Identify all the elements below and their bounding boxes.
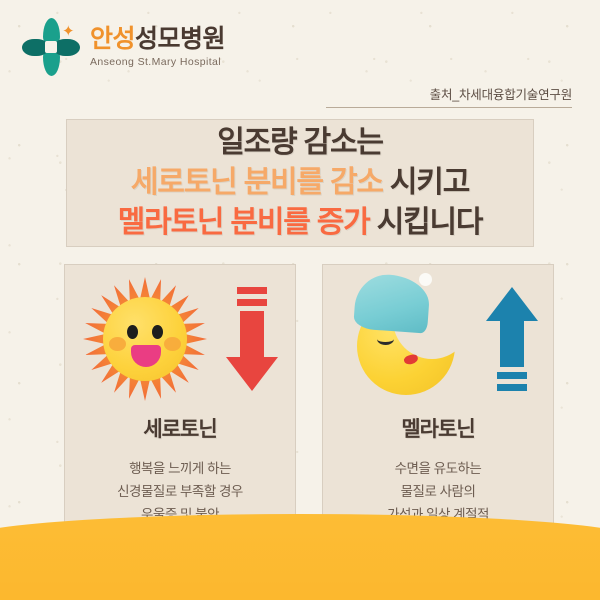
smiling-sun-icon — [83, 277, 207, 401]
logo-center-gap — [45, 41, 57, 53]
logo-petal-right — [53, 39, 80, 56]
arrow-dash — [497, 384, 527, 391]
hospital-logo: ✦ 안성성모병원 Anseong St.Mary Hospital — [22, 18, 225, 76]
source-credit: 출처_차세대융합기술연구원 — [326, 84, 572, 108]
headline-line-3: 멜라토닌 분비를 증가 시킵니다 — [118, 203, 483, 243]
card-serotonin-art — [65, 271, 295, 407]
logo-name-accent: 안성 — [90, 25, 135, 53]
headline-panel: 일조량 감소는 세로토닌 분비를 감소 시키고 멜라토닌 분비를 증가 시킵니다 — [66, 119, 534, 247]
body-line: 행복을 느끼게 하는 — [65, 457, 295, 480]
headline-line-3-plain: 시킵니다 — [370, 206, 483, 239]
body-line: 수면을 유도하는 — [323, 457, 553, 480]
logo-subtitle: Anseong St.Mary Hospital — [90, 56, 225, 68]
card-serotonin: 세로토닌 행복을 느끼게 하는 신경물질로 부족할 경우 우울증 및 불안 식욕… — [64, 264, 296, 548]
arrow-stem — [240, 311, 264, 357]
sun-cheek-left — [109, 337, 126, 351]
arrow-head — [486, 287, 538, 321]
sleeping-moon-icon — [349, 275, 471, 403]
four-petal-cross-logo-icon: ✦ — [22, 18, 80, 76]
logo-name: 안성성모병원 — [90, 26, 225, 53]
headline-line-2-plain: 시키고 — [383, 166, 469, 199]
headline-line-3-colored: 멜라토닌 분비를 증가 — [118, 206, 370, 239]
arrow-up-icon — [483, 287, 541, 391]
spark-accent-icon: ✦ — [62, 25, 75, 38]
arrow-stem — [500, 321, 524, 367]
nightcap-pompom — [419, 273, 432, 286]
card-melatonin-art — [323, 271, 553, 407]
source-text: 출처_차세대융합기술연구원 — [326, 84, 572, 103]
arrow-head — [226, 357, 278, 391]
logo-wordmark: 안성성모병원 Anseong St.Mary Hospital — [90, 26, 225, 68]
infographic-page: ✦ 안성성모병원 Anseong St.Mary Hospital 출처_차세대… — [0, 0, 600, 600]
arrow-dash — [497, 372, 527, 379]
source-underline — [326, 107, 572, 108]
headline-line-2-colored: 세로토닌 분비를 감소 — [131, 166, 383, 199]
card-serotonin-title: 세로토닌 — [65, 413, 295, 443]
moon-closed-eye — [377, 333, 394, 345]
headline-line-2: 세로토닌 분비를 감소 시키고 — [131, 163, 469, 203]
arrow-dash — [237, 299, 267, 306]
sun-face — [103, 297, 187, 381]
logo-name-dark: 성모병원 — [135, 25, 225, 53]
arrow-dash — [237, 287, 267, 294]
sun-mouth — [131, 345, 161, 367]
headline-line-1: 일조량 감소는 — [217, 123, 383, 163]
body-line: 신경물질로 부족할 경우 — [65, 480, 295, 503]
sun-cheek-right — [164, 337, 181, 351]
card-melatonin-title: 멜라토닌 — [323, 413, 553, 443]
sun-eye-left — [127, 325, 138, 339]
sun-eye-right — [152, 325, 163, 339]
body-line: 물질로 사람의 — [323, 480, 553, 503]
arrow-down-icon — [223, 287, 281, 391]
card-melatonin: 멜라토닌 수면을 유도하는 물질로 사람의 가성과 일상 계절적 생체 리듬을 … — [322, 264, 554, 548]
bottom-decorative-band — [0, 514, 600, 600]
